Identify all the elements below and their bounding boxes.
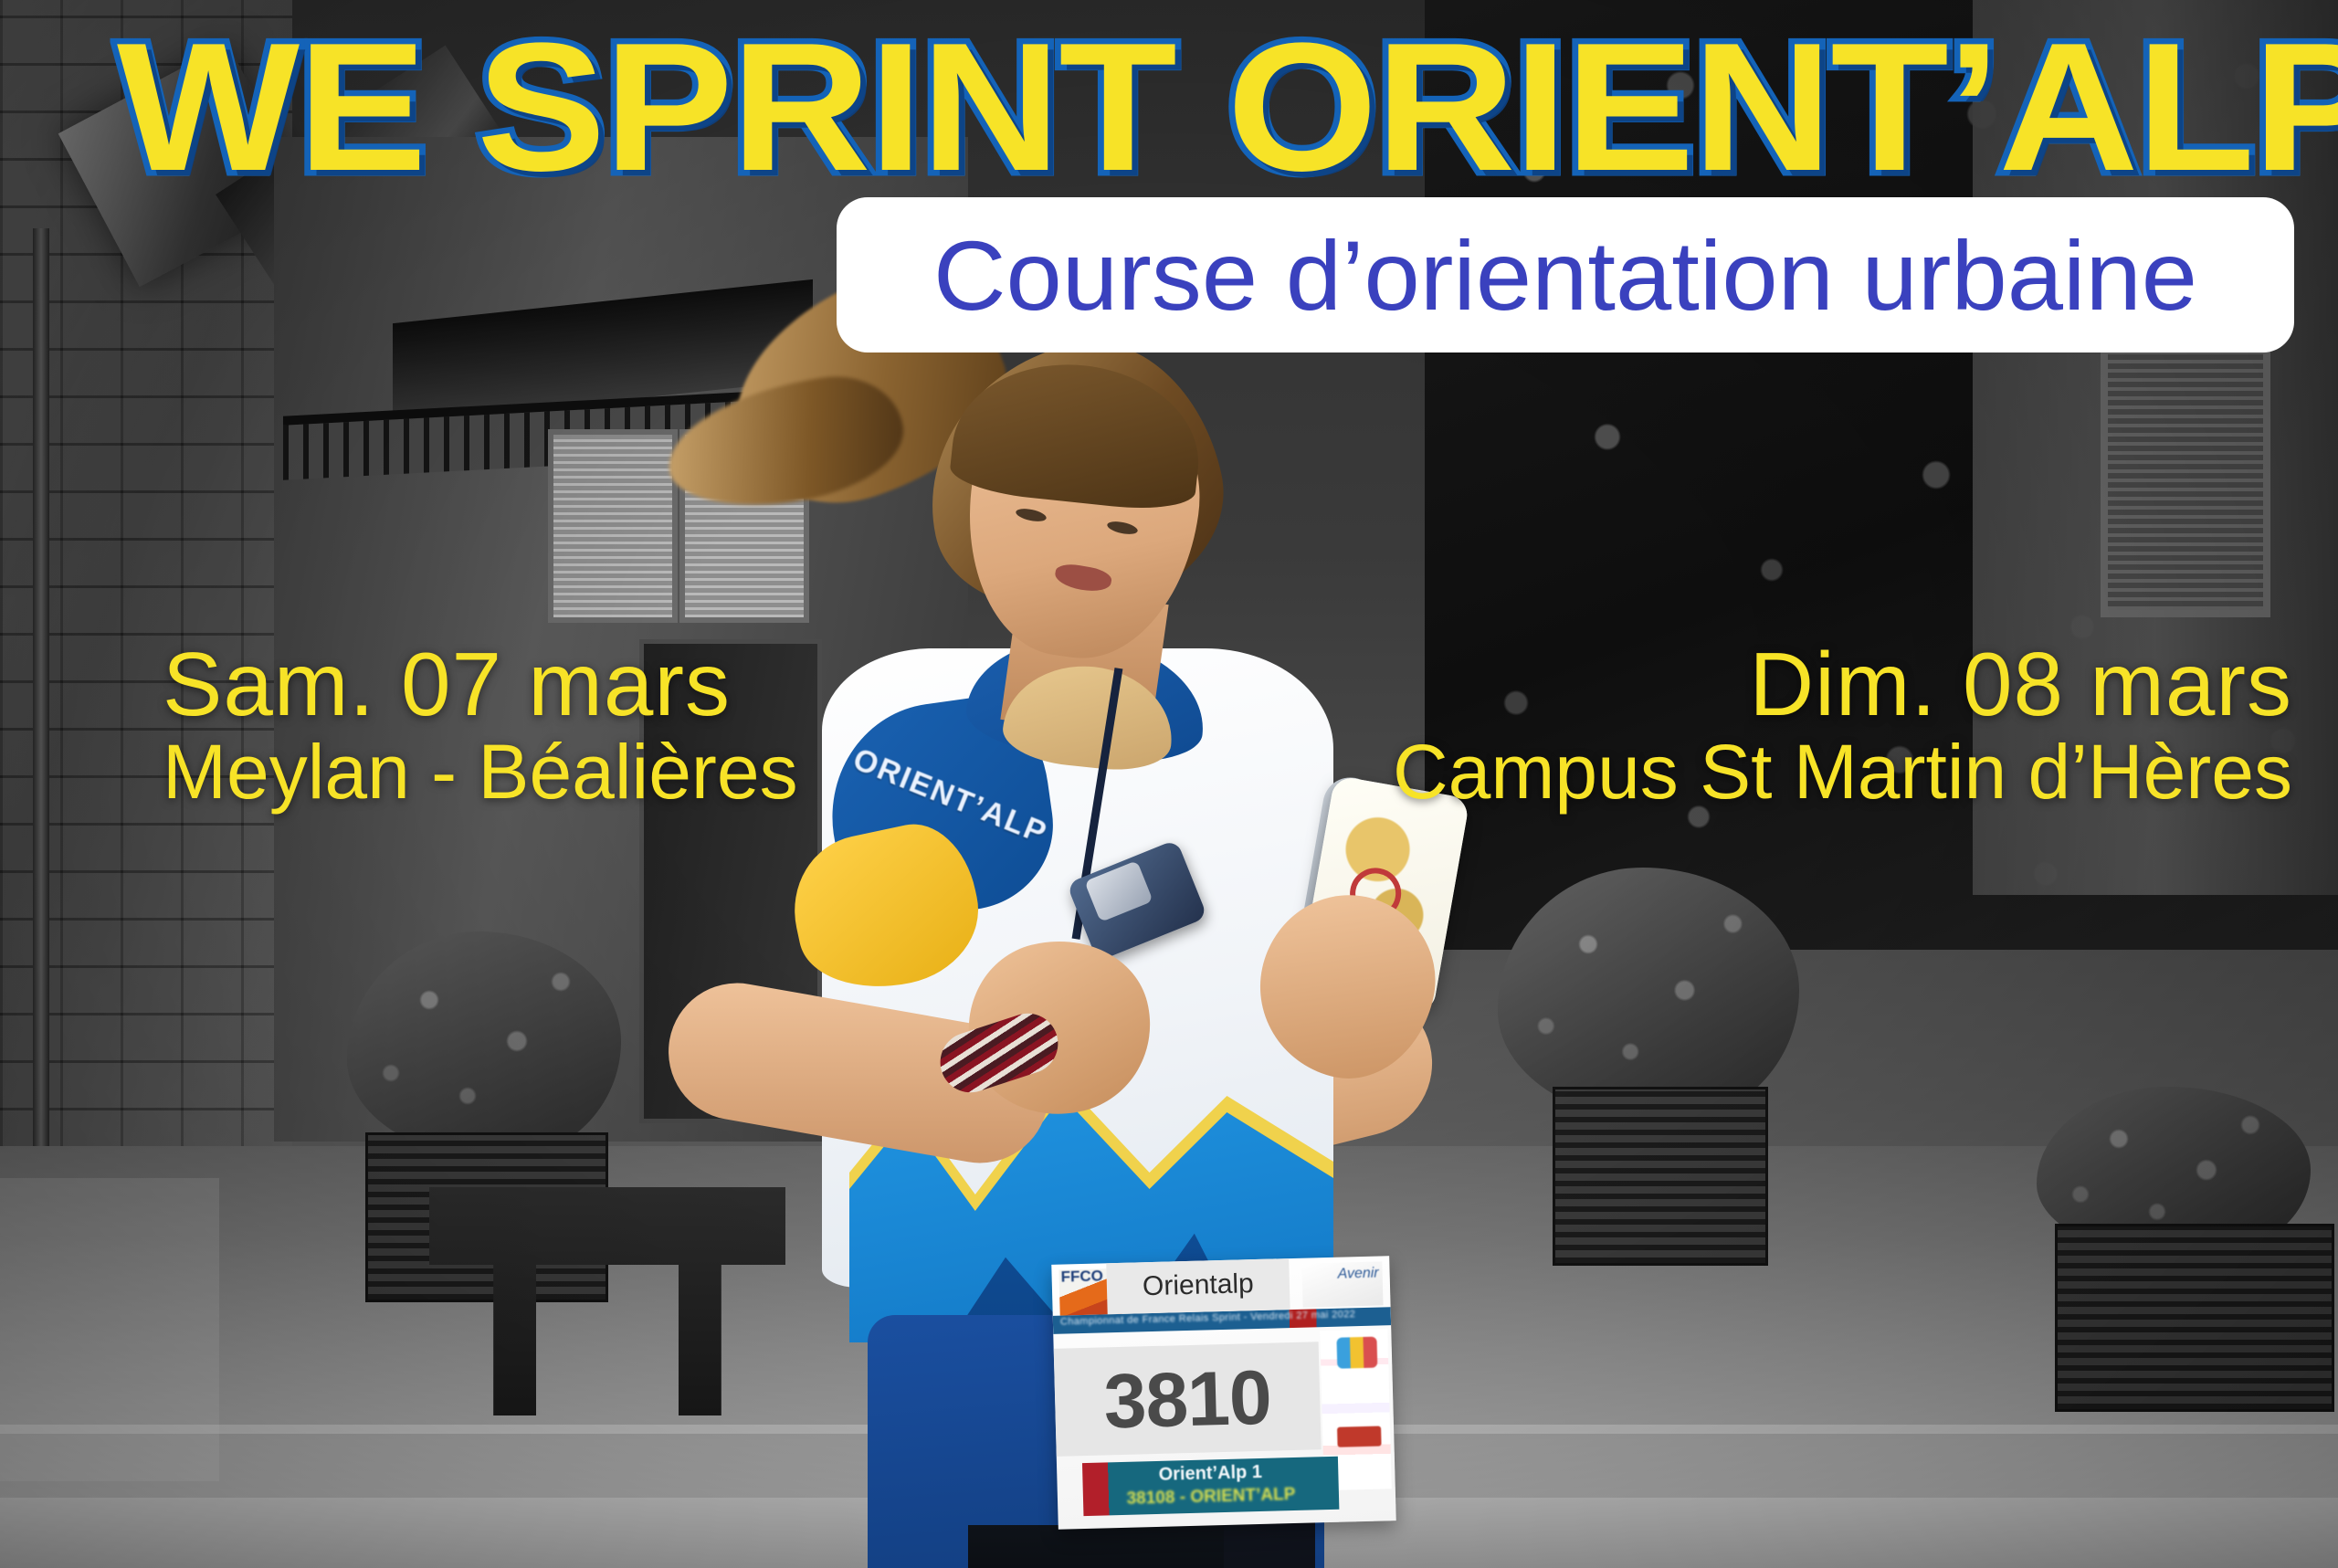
bib-number: 3810 <box>1054 1342 1322 1457</box>
date-saturday-day: Sam. 07 mars <box>163 639 798 729</box>
date-sunday-day: Dim. 08 mars <box>1393 639 2292 729</box>
bib-overlay-label: Orientalp <box>1106 1257 1290 1314</box>
bib-sponsor-badge-2 <box>1337 1426 1382 1447</box>
legs <box>968 1525 1224 1568</box>
date-block-sunday: Dim. 08 mars Campus St Martin d’Hères <box>1393 639 2292 815</box>
page-title: WE SPRINT ORIENT’ALP <box>117 16 2034 199</box>
date-sunday-location: Campus St Martin d’Hères <box>1393 729 2292 815</box>
date-block-saturday: Sam. 07 mars Meylan - Béalières <box>163 639 798 815</box>
sponsor-logo-label: Avenir <box>1337 1266 1379 1283</box>
runner-photo-subject: ORIENT’ALP FFCO Av <box>694 347 1480 1568</box>
event-poster: ORIENT’ALP FFCO Av <box>0 0 2338 1568</box>
race-bib: FFCO Avenir Championnat de France Relais… <box>1051 1256 1395 1530</box>
ffco-logo-label: FFCO <box>1060 1268 1103 1284</box>
subtitle-text: Course d’orientation urbaine <box>822 197 2309 353</box>
subtitle-panel: Course d’orientation urbaine <box>837 197 2294 353</box>
date-saturday-location: Meylan - Béalières <box>163 729 798 815</box>
bib-sponsor-badge-1 <box>1336 1337 1377 1369</box>
